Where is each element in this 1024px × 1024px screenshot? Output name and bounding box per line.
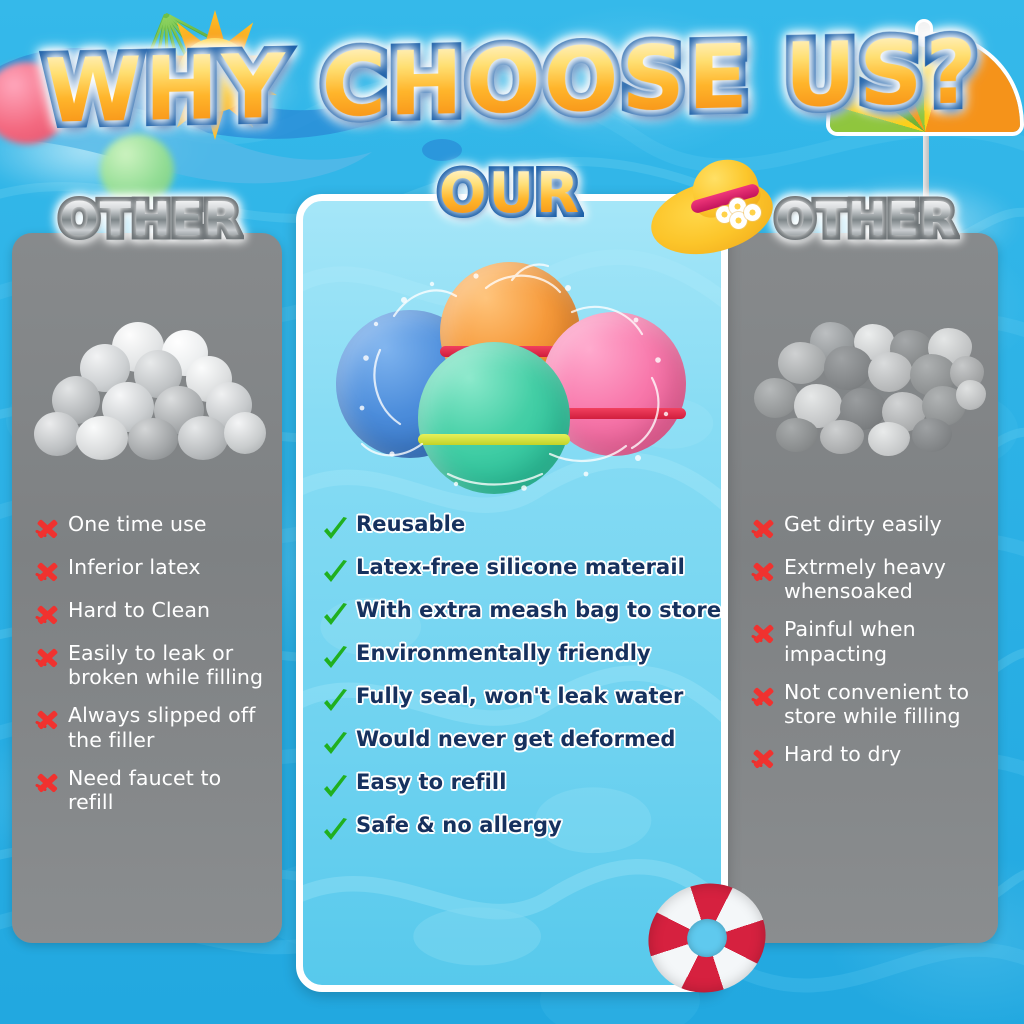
feature-item: Need faucet to refill [34, 766, 272, 814]
x-icon [34, 515, 60, 541]
x-icon [750, 620, 776, 646]
product-image-latex-balloons [34, 320, 266, 460]
feature-item-label: Easy to refill [356, 770, 507, 795]
check-icon [322, 645, 348, 671]
feature-item-label: Environmentally friendly [356, 641, 651, 666]
x-icon [34, 769, 60, 795]
feature-item-label: Not convenient to store while filling [784, 680, 988, 728]
other-right-feature-list: Get dirty easilyExtrmely heavy whensoake… [750, 512, 988, 785]
other-left-feature-list: One time useInferior latexHard to CleanE… [34, 512, 272, 828]
check-icon [322, 688, 348, 714]
x-icon [34, 644, 60, 670]
feature-item: Easily to leak or broken while filling [34, 641, 272, 689]
feature-item: Fully seal, won't leak water [322, 684, 722, 714]
feature-item: Painful when impacting [750, 617, 988, 665]
feature-item: One time use [34, 512, 272, 541]
x-icon [34, 558, 60, 584]
feature-item: Inferior latex [34, 555, 272, 584]
feature-item-label: Always slipped off the filler [68, 703, 272, 751]
feature-item-label: Inferior latex [68, 555, 201, 579]
check-icon [322, 602, 348, 628]
feature-item-label: Would never get deformed [356, 727, 676, 752]
our-feature-list: ReusableLatex-free silicone materailWith… [322, 512, 722, 856]
feature-item-label: Latex-free silicone materail [356, 555, 685, 580]
feature-item-label: Reusable [356, 512, 465, 537]
feature-item: Extrmely heavy whensoaked [750, 555, 988, 603]
x-icon [34, 601, 60, 627]
feature-item: Hard to Clean [34, 598, 272, 627]
feature-item-label: Safe & no allergy [356, 813, 562, 838]
x-icon [750, 515, 776, 541]
feature-item: Always slipped off the filler [34, 703, 272, 751]
teal-balloon [418, 342, 570, 494]
x-icon [750, 745, 776, 771]
our-heading: OUR [330, 166, 690, 222]
sun-hat-icon [650, 152, 774, 256]
feature-item-label: Hard to Clean [68, 598, 210, 622]
check-icon [322, 731, 348, 757]
feature-item-label: Get dirty easily [784, 512, 942, 536]
feature-item: With extra meash bag to store [322, 598, 722, 628]
check-icon [322, 817, 348, 843]
feature-item-label: Easily to leak or broken while filling [68, 641, 272, 689]
feature-item: Hard to dry [750, 742, 988, 771]
feature-item: Would never get deformed [322, 727, 722, 757]
feature-item: Environmentally friendly [322, 641, 722, 671]
feature-item-label: Painful when impacting [784, 617, 988, 665]
product-image-silicone-balloons [336, 258, 692, 494]
page-title: WHY CHOOSE US? [0, 27, 1024, 136]
feature-item-label: Need faucet to refill [68, 766, 272, 814]
feature-item-label: Extrmely heavy whensoaked [784, 555, 988, 603]
feature-item: Latex-free silicone materail [322, 555, 722, 585]
feature-item: Reusable [322, 512, 722, 542]
x-icon [34, 706, 60, 732]
check-icon [322, 516, 348, 542]
check-icon [322, 774, 348, 800]
feature-item: Easy to refill [322, 770, 722, 800]
product-image-foam-balls [750, 322, 982, 458]
feature-item-label: With extra meash bag to store [356, 598, 721, 623]
feature-item-label: Hard to dry [784, 742, 901, 766]
feature-item: Not convenient to store while filling [750, 680, 988, 728]
feature-item-label: One time use [68, 512, 207, 536]
infographic-canvas: WHY CHOOSE US? WHY CHOOSE US? OTHER OTHE… [0, 0, 1024, 1024]
x-icon [750, 558, 776, 584]
other-heading-left: OTHER [10, 196, 290, 242]
feature-item-label: Fully seal, won't leak water [356, 684, 684, 709]
feature-item: Safe & no allergy [322, 813, 722, 843]
check-icon [322, 559, 348, 585]
x-icon [750, 683, 776, 709]
feature-item: Get dirty easily [750, 512, 988, 541]
